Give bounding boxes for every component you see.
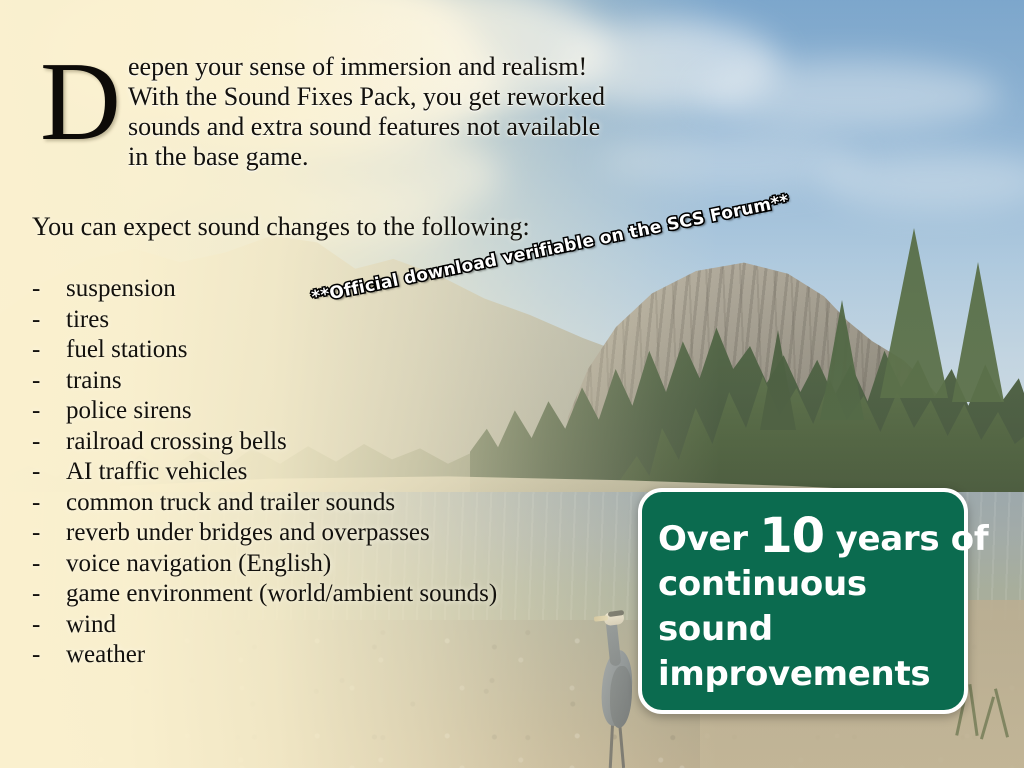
feature-label: voice navigation (English) xyxy=(66,549,331,580)
feature-list-item: -trains xyxy=(32,366,672,397)
list-marker: - xyxy=(32,366,66,397)
feature-list-item: -railroad crossing bells xyxy=(32,427,672,458)
feature-list-item: -voice navigation (English) xyxy=(32,549,672,580)
feature-label: game environment (world/ambient sounds) xyxy=(66,579,497,610)
feature-list-item: -fuel stations xyxy=(32,335,672,366)
feature-label: fuel stations xyxy=(66,335,188,366)
feature-list-item: -common truck and trailer sounds xyxy=(32,488,672,519)
list-marker: - xyxy=(32,427,66,458)
feature-list-item: -weather xyxy=(32,640,672,671)
list-marker: - xyxy=(32,274,66,305)
feature-list-item: -police sirens xyxy=(32,396,672,427)
feature-label: common truck and trailer sounds xyxy=(66,488,395,519)
feature-label: wind xyxy=(66,610,116,641)
feature-label: reverb under bridges and overpasses xyxy=(66,518,430,549)
sign-line-2: continuous xyxy=(658,562,950,607)
text-content: D eepen your sense of immersion and real… xyxy=(0,0,700,768)
sign-line-1: Over 10 years of xyxy=(658,514,950,562)
feature-label: suspension xyxy=(66,274,176,305)
highway-sign-text: Over 10 years of continuous sound improv… xyxy=(658,514,950,697)
sign-number: 10 xyxy=(759,508,824,564)
sign-line-3: sound xyxy=(658,607,950,652)
promo-slide: D eepen your sense of immersion and real… xyxy=(0,0,1024,768)
sign-prefix: Over xyxy=(658,519,748,559)
feature-label: trains xyxy=(66,366,122,397)
intro-paragraph: D eepen your sense of immersion and real… xyxy=(32,52,612,172)
list-marker: - xyxy=(32,518,66,549)
feature-list-item: -wind xyxy=(32,610,672,641)
sign-suffix: years of xyxy=(836,519,989,559)
list-marker: - xyxy=(32,640,66,671)
list-marker: - xyxy=(32,335,66,366)
list-marker: - xyxy=(32,579,66,610)
feature-list-item: -tires xyxy=(32,305,672,336)
feature-label: AI traffic vehicles xyxy=(66,457,247,488)
drop-cap: D xyxy=(40,56,121,148)
list-marker: - xyxy=(32,396,66,427)
feature-label: tires xyxy=(66,305,109,336)
feature-list: -suspension-tires-fuel stations-trains-p… xyxy=(32,274,672,671)
highway-sign: Over 10 years of continuous sound improv… xyxy=(638,488,968,714)
feature-list-item: -reverb under bridges and overpasses xyxy=(32,518,672,549)
list-marker: - xyxy=(32,549,66,580)
list-marker: - xyxy=(32,610,66,641)
sign-line-4: improvements xyxy=(658,652,950,697)
list-marker: - xyxy=(32,457,66,488)
feature-label: railroad crossing bells xyxy=(66,427,287,458)
list-marker: - xyxy=(32,305,66,336)
feature-list-item: -AI traffic vehicles xyxy=(32,457,672,488)
feature-label: police sirens xyxy=(66,396,192,427)
list-marker: - xyxy=(32,488,66,519)
feature-label: weather xyxy=(66,640,145,671)
feature-list-item: -game environment (world/ambient sounds) xyxy=(32,579,672,610)
